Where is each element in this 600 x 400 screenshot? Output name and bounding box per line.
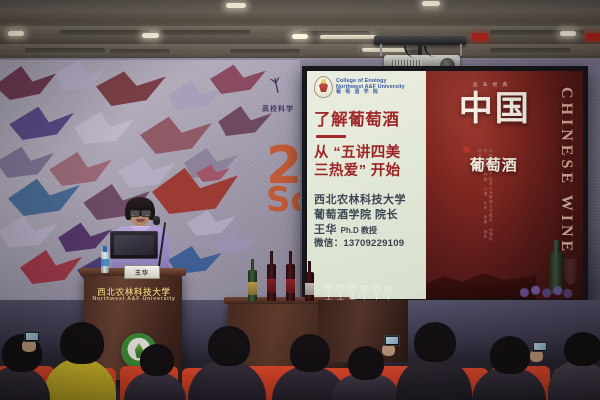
- slide-left-panel: College of Enology Northwest A&F Univers…: [307, 71, 426, 299]
- audience-head: [290, 334, 330, 372]
- presenter-role: 葡萄酒学院 院长: [314, 208, 420, 223]
- wine-bottle: [286, 264, 295, 301]
- audience-person: [396, 356, 472, 400]
- audience-head: [490, 336, 530, 374]
- slide-subtitle-line-1: 从 “五讲四美: [314, 145, 420, 163]
- slide-body-cn: 中国葡萄酒产区风土与酿造工艺概览 地理标志 品种 气候 土壤 年份 风格 酒庄 …: [446, 149, 493, 245]
- nameplate-text: 王华: [135, 268, 149, 277]
- eyeglasses-right-icon: [141, 210, 151, 217]
- slide-grapes-image: [512, 283, 574, 299]
- wine-bottle: [267, 264, 276, 301]
- slide-tagline-cn: 品 味 经 典: [473, 82, 509, 88]
- ceiling: [0, 0, 600, 62]
- slide-wine-glass-image: [564, 259, 577, 285]
- presenter-name: 王华: [314, 224, 337, 236]
- slide-title-rule: [316, 135, 346, 138]
- presenter-laptop: [110, 231, 158, 259]
- presenter-credential: Ph.D 教授: [341, 226, 377, 235]
- wine-bottle: [305, 272, 314, 301]
- phone-screen-icon: [532, 341, 548, 352]
- mural-poster-cn-text: 高校科学: [262, 104, 294, 114]
- slide-presenter-block: 西北农林科技大学 葡萄酒学院 院长 王华 Ph.D 教授 微信：13709229…: [314, 193, 420, 250]
- logo-chinese-line: 葡 萄 酒 学 院: [336, 90, 405, 96]
- microphone-icon: [153, 216, 160, 225]
- water-bottle: [101, 251, 109, 273]
- audience-head: [140, 344, 174, 376]
- audience-head: [348, 346, 384, 380]
- projection-screen: College of Enology Northwest A&F Univers…: [302, 66, 588, 304]
- slide-subtitle-line-2: 三热爱” 开始: [314, 163, 420, 181]
- lecture-hall-screenshot: 高校科学 ᛉ 2 Sc College of Enology Northwest…: [0, 0, 600, 400]
- podium-english-name: Northwest A&F University: [92, 296, 176, 302]
- phone-screen-icon: [24, 331, 40, 342]
- college-crest-icon: [314, 76, 333, 98]
- wine-glass: [336, 284, 345, 301]
- presenter-affiliation: 西北农林科技大学: [314, 193, 420, 208]
- speaker-nameplate: 王华: [124, 265, 160, 279]
- presenter-wechat: 微信：13709229109: [314, 238, 420, 251]
- slide-right-panel: 品 味 经 典 中国 葡萄酒 中国葡萄酒产区风土与酿造工艺概览 地理标志 品种 …: [426, 71, 583, 299]
- audience-head: [208, 326, 250, 366]
- audience-person: [548, 360, 600, 400]
- presenter-name-row: 王华 Ph.D 教授: [314, 223, 420, 238]
- wine-glass: [324, 284, 333, 301]
- mural-poster-glyph-2: Sc: [266, 180, 300, 220]
- slide-title: 了解葡萄酒: [314, 106, 420, 130]
- wine-glass: [348, 284, 357, 301]
- audience-head: [564, 332, 600, 366]
- eyeglasses-left-icon: [130, 210, 140, 217]
- slide-headline-cn: 中国: [459, 94, 531, 126]
- audience-head: [414, 322, 456, 362]
- slide-logo-block: College of Enology Northwest A&F Univers…: [314, 76, 420, 98]
- slide-headline-en: CHINESE WINE: [557, 87, 575, 255]
- wine-bottle: [248, 270, 257, 301]
- audience-head: [60, 322, 104, 364]
- phone-screen-icon: [384, 335, 400, 346]
